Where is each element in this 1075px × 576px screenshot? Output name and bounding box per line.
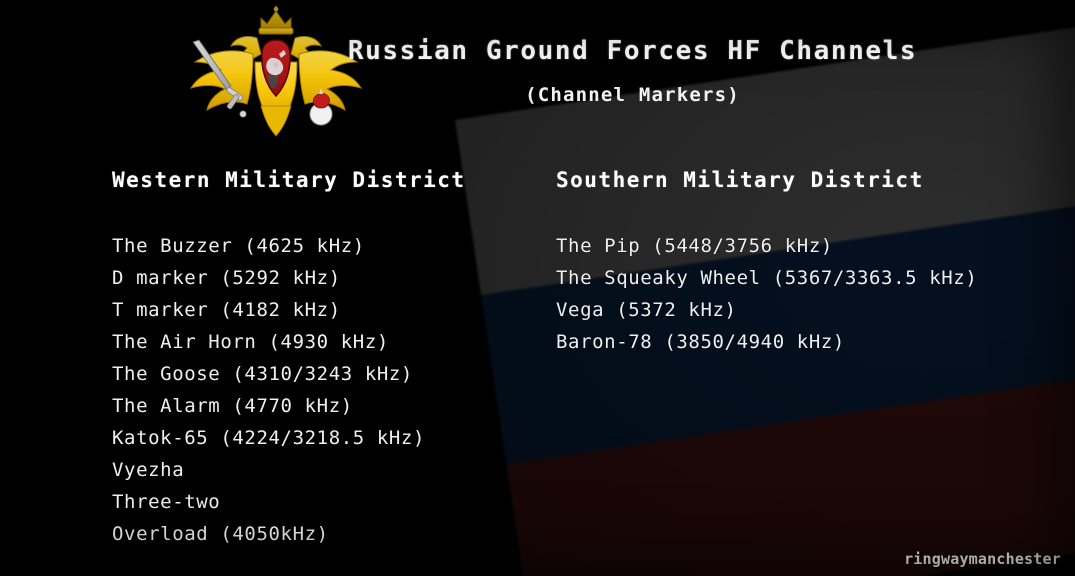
list-item: Vyezha bbox=[112, 454, 542, 486]
channel-list-southern: The Pip (5448/3756 kHz) The Squeaky Whee… bbox=[556, 230, 1056, 358]
channel-watermark: ringwaymanchester bbox=[904, 550, 1061, 568]
list-item: T marker (4182 kHz) bbox=[112, 294, 542, 326]
list-item: Baron-78 (3850/4940 kHz) bbox=[556, 326, 1056, 358]
slide-root: Russian Ground Forces HF Channels (Chann… bbox=[0, 0, 1075, 576]
column-western-military-district: Western Military District The Buzzer (46… bbox=[112, 168, 542, 550]
list-item: The Goose (4310/3243 kHz) bbox=[112, 358, 542, 390]
list-item: The Air Horn (4930 kHz) bbox=[112, 326, 542, 358]
page-subtitle: (Channel Markers) bbox=[0, 84, 1075, 106]
list-item: Overload (4050kHz) bbox=[112, 518, 542, 550]
list-item: The Alarm (4770 kHz) bbox=[112, 390, 542, 422]
list-item: D marker (5292 kHz) bbox=[112, 262, 542, 294]
russian-eagle-emblem-icon bbox=[183, 2, 369, 142]
list-item: Vega (5372 kHz) bbox=[556, 294, 1056, 326]
list-item: Katok-65 (4224/3218.5 kHz) bbox=[112, 422, 542, 454]
list-item: The Pip (5448/3756 kHz) bbox=[556, 230, 1056, 262]
list-item: The Squeaky Wheel (5367/3363.5 kHz) bbox=[556, 262, 1056, 294]
column-southern-military-district: Southern Military District The Pip (5448… bbox=[556, 168, 1056, 358]
eagle-tail bbox=[261, 106, 291, 136]
channel-list-western: The Buzzer (4625 kHz) D marker (5292 kHz… bbox=[112, 230, 542, 550]
column-header-southern: Southern Military District bbox=[556, 168, 1056, 192]
slide-content: Russian Ground Forces HF Channels (Chann… bbox=[0, 0, 1075, 576]
column-header-western: Western Military District bbox=[112, 168, 542, 192]
list-item: The Buzzer (4625 kHz) bbox=[112, 230, 542, 262]
crown-part bbox=[259, 5, 293, 34]
page-title: Russian Ground Forces HF Channels bbox=[0, 36, 1075, 66]
list-item: Three-two bbox=[112, 486, 542, 518]
